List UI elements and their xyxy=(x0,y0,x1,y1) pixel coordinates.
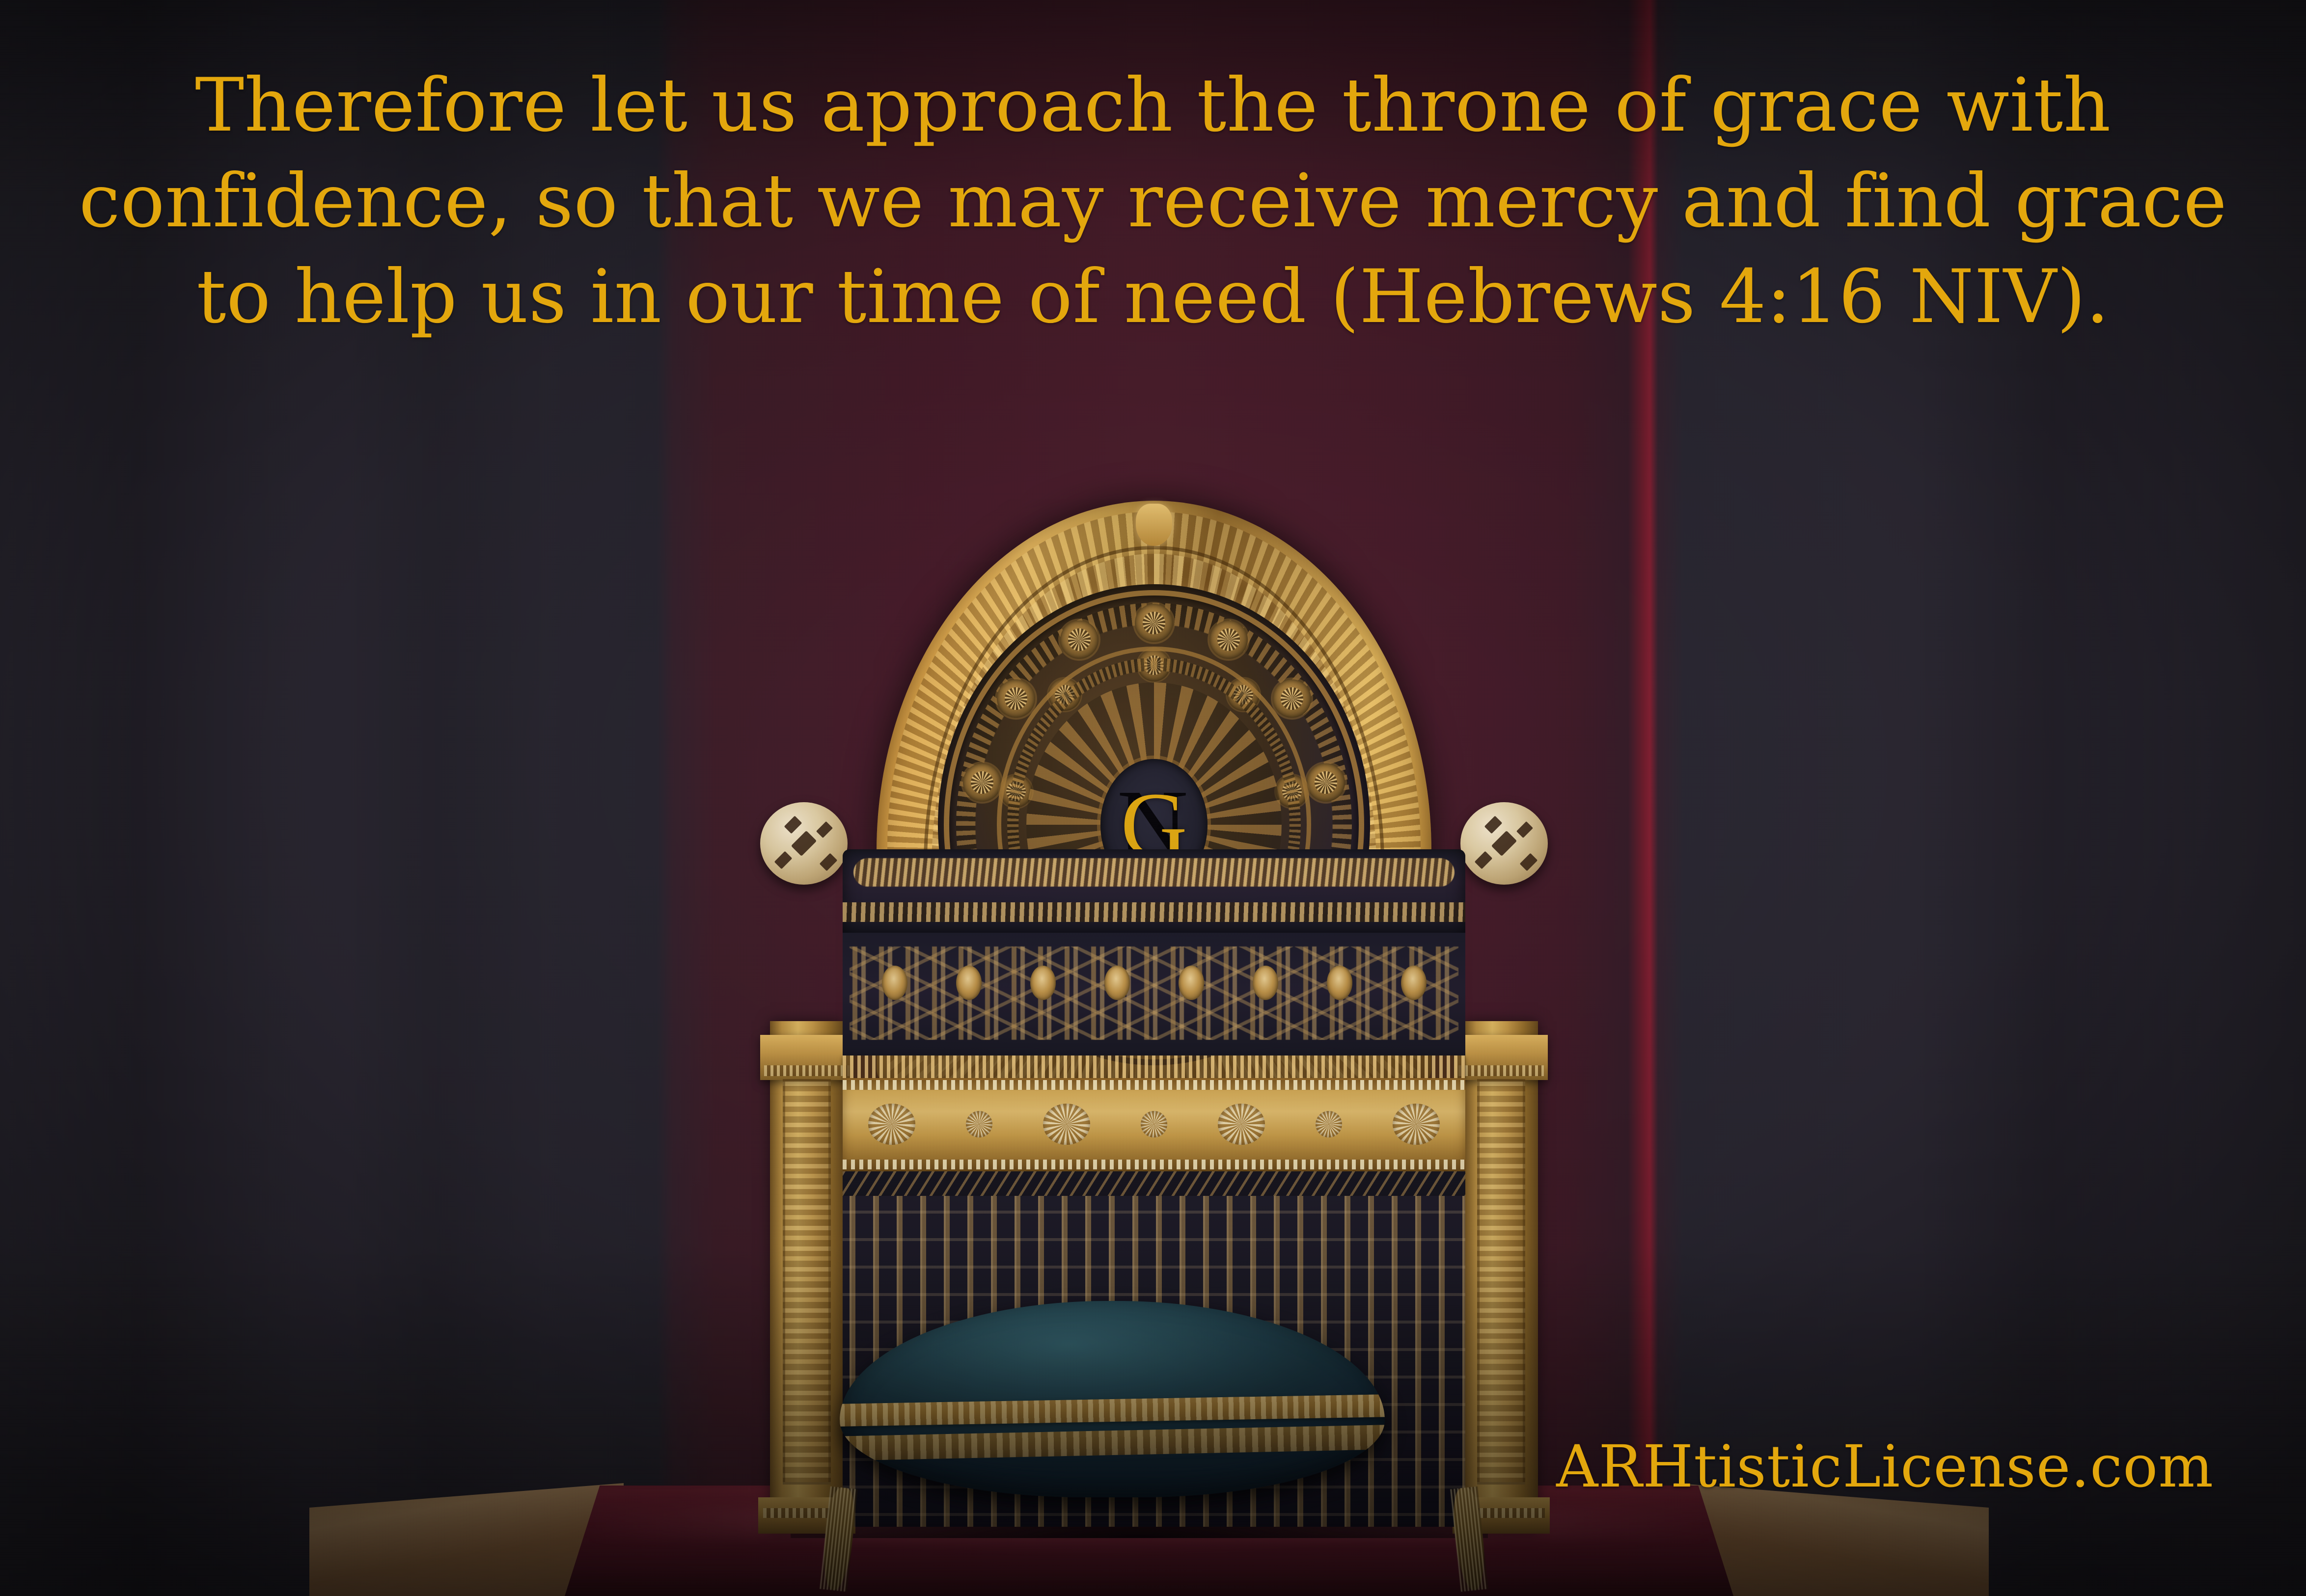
verse-line-2: confidence, so that we may receive mercy… xyxy=(74,154,2232,249)
scripture-verse-text: Therefore let us approach the throne of … xyxy=(0,58,2306,345)
scripture-image-canvas: N G xyxy=(0,0,2306,1596)
site-watermark[interactable]: ARHtisticLicense.com xyxy=(1556,1433,2214,1500)
verse-line-1: Therefore let us approach the throne of … xyxy=(74,58,2232,154)
verse-line-3: to help us in our time of need (Hebrews … xyxy=(74,249,2232,345)
